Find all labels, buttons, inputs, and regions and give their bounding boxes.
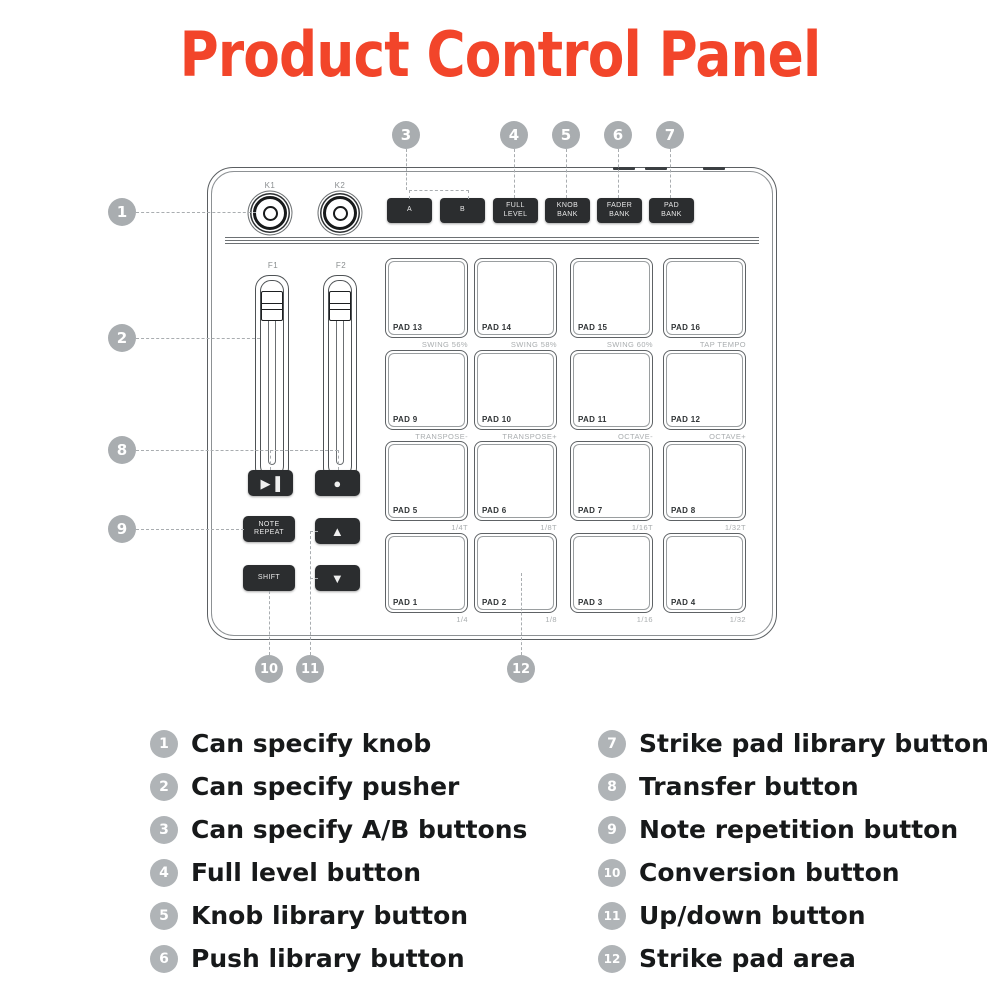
leader-3-bracket bbox=[409, 190, 469, 191]
pad-1-label: PAD 1 bbox=[393, 598, 417, 607]
note-repeat-button[interactable]: NOTE REPEAT bbox=[243, 516, 295, 542]
full-level-button[interactable]: FULL LEVEL bbox=[493, 198, 538, 223]
fader-f1-label: F1 bbox=[256, 261, 290, 270]
pad-15-label: PAD 15 bbox=[578, 323, 607, 332]
legend-item-11: 11 Up/down button bbox=[598, 898, 989, 933]
pad-bank-button-label: PAD BANK bbox=[661, 202, 682, 218]
chevron-down-icon: ▼ bbox=[331, 572, 344, 585]
knob-k2[interactable]: K2 bbox=[323, 196, 357, 230]
legend-column-right: 7 Strike pad library button 8 Transfer b… bbox=[598, 726, 989, 984]
leader-7-stem bbox=[670, 149, 671, 198]
callout-8: 8 bbox=[108, 436, 136, 464]
callout-4: 4 bbox=[500, 121, 528, 149]
legend-item-3: 3 Can specify A/B buttons bbox=[150, 812, 527, 847]
fader-bank-button[interactable]: FADER BANK bbox=[597, 198, 642, 223]
legend-badge-7: 7 bbox=[598, 730, 626, 758]
pad-8-label: PAD 8 bbox=[671, 506, 695, 515]
leader-8-left bbox=[270, 450, 271, 470]
knob-bank-button-label: KNOB BANK bbox=[557, 202, 578, 218]
fader-f1-slot bbox=[268, 315, 276, 465]
pad-3-label: PAD 3 bbox=[578, 598, 602, 607]
leader-6-stem bbox=[618, 149, 619, 198]
callout-5: 5 bbox=[552, 121, 580, 149]
callout-2: 2 bbox=[108, 324, 136, 352]
knob-k1[interactable]: K1 bbox=[253, 196, 287, 230]
callout-12-number: 12 bbox=[512, 662, 530, 677]
legend-item-2: 2 Can specify pusher bbox=[150, 769, 527, 804]
pad-4-label: PAD 4 bbox=[671, 598, 695, 607]
callout-11: 11 bbox=[296, 655, 324, 683]
legend-badge-4: 4 bbox=[150, 859, 178, 887]
pad-12-label: PAD 12 bbox=[671, 415, 700, 424]
pad-13-label: PAD 13 bbox=[393, 323, 422, 332]
legend-text-10: Conversion button bbox=[639, 858, 900, 887]
leader-9-line bbox=[136, 529, 244, 530]
shift-label: SHIFT bbox=[258, 574, 280, 582]
callout-10-number: 10 bbox=[260, 662, 278, 677]
port-mark-3 bbox=[703, 167, 725, 170]
fader-f2-slot bbox=[336, 315, 344, 465]
legend-text-4: Full level button bbox=[191, 858, 421, 887]
panel-divider-3 bbox=[225, 243, 759, 244]
legend-text-5: Knob library button bbox=[191, 901, 468, 930]
callout-9: 9 bbox=[108, 515, 136, 543]
legend-text-9: Note repetition button bbox=[639, 815, 958, 844]
b-button[interactable]: B bbox=[440, 198, 485, 223]
leader-2-line bbox=[136, 338, 260, 339]
fader-f1-track bbox=[260, 280, 284, 477]
pad-16[interactable]: PAD 16 bbox=[663, 258, 746, 338]
pad-8[interactable]: PAD 8 bbox=[663, 441, 746, 521]
record-icon: ● bbox=[333, 477, 341, 490]
leader-11-bracket bbox=[310, 531, 318, 532]
legend-badge-11: 11 bbox=[598, 902, 626, 930]
chevron-up-icon: ▲ bbox=[331, 525, 344, 538]
callout-7: 7 bbox=[656, 121, 684, 149]
knob-k1-dial[interactable] bbox=[253, 196, 287, 230]
leader-4-stem bbox=[514, 149, 515, 198]
a-button-label: A bbox=[407, 206, 412, 214]
legend-item-5: 5 Knob library button bbox=[150, 898, 527, 933]
callout-3: 3 bbox=[392, 121, 420, 149]
callout-5-number: 5 bbox=[561, 126, 571, 144]
pad-10[interactable]: PAD 10 bbox=[474, 350, 557, 430]
pad-3-sub: 1/16 bbox=[570, 615, 653, 624]
legend-text-3: Can specify A/B buttons bbox=[191, 815, 527, 844]
fader-bank-button-label: FADER BANK bbox=[607, 202, 632, 218]
knob-k2-dial[interactable] bbox=[323, 196, 357, 230]
callout-2-number: 2 bbox=[117, 329, 127, 347]
pad-11[interactable]: PAD 11 bbox=[570, 350, 653, 430]
leader-12-stem bbox=[521, 573, 522, 655]
pad-15[interactable]: PAD 15 bbox=[570, 258, 653, 338]
leader-3-right bbox=[468, 190, 469, 199]
record-button[interactable]: ● bbox=[315, 470, 360, 496]
pad-14[interactable]: PAD 14 bbox=[474, 258, 557, 338]
legend-text-8: Transfer button bbox=[639, 772, 859, 801]
pad-1[interactable]: PAD 1 bbox=[385, 533, 468, 613]
pad-16-label: PAD 16 bbox=[671, 323, 700, 332]
legend-badge-2: 2 bbox=[150, 773, 178, 801]
pad-7-label: PAD 7 bbox=[578, 506, 602, 515]
pad-1-sub: 1/4 bbox=[385, 615, 468, 624]
legend-text-7: Strike pad library button bbox=[639, 729, 989, 758]
leader-3-left bbox=[409, 190, 410, 199]
a-button[interactable]: A bbox=[387, 198, 432, 223]
legend-item-12: 12 Strike pad area bbox=[598, 941, 989, 976]
pad-6-label: PAD 6 bbox=[482, 506, 506, 515]
legend-badge-5: 5 bbox=[150, 902, 178, 930]
legend-badge-3: 3 bbox=[150, 816, 178, 844]
legend-column-left: 1 Can specify knob 2 Can specify pusher … bbox=[150, 726, 527, 984]
pad-7[interactable]: PAD 7 bbox=[570, 441, 653, 521]
pad-2[interactable]: PAD 2 bbox=[474, 533, 557, 613]
callout-6-number: 6 bbox=[613, 126, 623, 144]
legend-badge-10: 10 bbox=[598, 859, 626, 887]
pad-4[interactable]: PAD 4 bbox=[663, 533, 746, 613]
callout-1: 1 bbox=[108, 198, 136, 226]
legend-item-7: 7 Strike pad library button bbox=[598, 726, 989, 761]
play-pause-icon: ▶▐ bbox=[260, 477, 280, 490]
callout-9-number: 9 bbox=[117, 520, 127, 538]
pad-5[interactable]: PAD 5 bbox=[385, 441, 468, 521]
legend-badge-6: 6 bbox=[150, 945, 178, 973]
leader-10-stem bbox=[269, 591, 270, 655]
shift-button[interactable]: SHIFT bbox=[243, 565, 295, 591]
pad-6-sub: 1/8T bbox=[474, 523, 557, 532]
callout-3-number: 3 bbox=[401, 126, 411, 144]
legend-text-1: Can specify knob bbox=[191, 729, 431, 758]
callout-1-number: 1 bbox=[117, 203, 127, 221]
pad-2-sub: 1/8 bbox=[474, 615, 557, 624]
pad-8-sub: 1/32T bbox=[663, 523, 746, 532]
pad-4-sub: 1/32 bbox=[663, 615, 746, 624]
play-pause-button[interactable]: ▶▐ bbox=[248, 470, 293, 496]
pad-14-label: PAD 14 bbox=[482, 323, 511, 332]
pad-14-sub: SWING 58% bbox=[474, 340, 557, 349]
leader-11-bracket2 bbox=[310, 578, 318, 579]
legend-badge-9: 9 bbox=[598, 816, 626, 844]
leader-3-stem bbox=[406, 149, 407, 190]
panel-divider-1 bbox=[225, 237, 759, 238]
pad-11-sub: OCTAVE- bbox=[570, 432, 653, 441]
callout-12: 12 bbox=[507, 655, 535, 683]
pad-12[interactable]: PAD 12 bbox=[663, 350, 746, 430]
legend-item-10: 10 Conversion button bbox=[598, 855, 989, 890]
leader-8-right bbox=[338, 450, 339, 470]
b-button-label: B bbox=[460, 206, 465, 214]
port-mark-1 bbox=[613, 167, 635, 170]
page-title: Product Control Panel bbox=[70, 18, 930, 91]
callout-10: 10 bbox=[255, 655, 283, 683]
pad-16-sub: TAP TEMPO bbox=[663, 340, 746, 349]
callout-4-number: 4 bbox=[509, 126, 519, 144]
legend-text-6: Push library button bbox=[191, 944, 465, 973]
pad-5-label: PAD 5 bbox=[393, 506, 417, 515]
knob-k2-label: K2 bbox=[320, 181, 360, 190]
legend-text-11: Up/down button bbox=[639, 901, 866, 930]
fader-f2-handle[interactable] bbox=[329, 291, 351, 321]
fader-f1-handle[interactable] bbox=[261, 291, 283, 321]
down-button[interactable]: ▼ bbox=[315, 565, 360, 591]
pad-13[interactable]: PAD 13 bbox=[385, 258, 468, 338]
knob-bank-button[interactable]: KNOB BANK bbox=[545, 198, 590, 223]
legend-item-6: 6 Push library button bbox=[150, 941, 527, 976]
port-mark-2 bbox=[645, 167, 667, 170]
leader-8-bracket bbox=[270, 450, 338, 451]
legend-badge-8: 8 bbox=[598, 773, 626, 801]
pad-9[interactable]: PAD 9 bbox=[385, 350, 468, 430]
pad-6[interactable]: PAD 6 bbox=[474, 441, 557, 521]
fader-f2-label: F2 bbox=[324, 261, 358, 270]
pad-2-label: PAD 2 bbox=[482, 598, 506, 607]
callout-7-number: 7 bbox=[665, 126, 675, 144]
pad-bank-button[interactable]: PAD BANK bbox=[649, 198, 694, 223]
pad-12-sub: OCTAVE+ bbox=[663, 432, 746, 441]
fader-f2-track bbox=[328, 280, 352, 477]
callout-8-number: 8 bbox=[117, 441, 127, 459]
pad-10-sub: TRANSPOSE+ bbox=[474, 432, 557, 441]
callout-6: 6 bbox=[604, 121, 632, 149]
pad-11-label: PAD 11 bbox=[578, 415, 607, 424]
legend-text-12: Strike pad area bbox=[639, 944, 856, 973]
pad-10-label: PAD 10 bbox=[482, 415, 511, 424]
legend-badge-1: 1 bbox=[150, 730, 178, 758]
legend-item-1: 1 Can specify knob bbox=[150, 726, 527, 761]
leader-5-stem bbox=[566, 149, 567, 198]
legend-text-2: Can specify pusher bbox=[191, 772, 459, 801]
pad-3[interactable]: PAD 3 bbox=[570, 533, 653, 613]
callout-11-number: 11 bbox=[301, 662, 319, 677]
legend-item-9: 9 Note repetition button bbox=[598, 812, 989, 847]
legend-item-8: 8 Transfer button bbox=[598, 769, 989, 804]
full-level-button-label: FULL LEVEL bbox=[504, 202, 528, 218]
knob-k1-label: K1 bbox=[250, 181, 290, 190]
legend-badge-12: 12 bbox=[598, 945, 626, 973]
pad-9-label: PAD 9 bbox=[393, 415, 417, 424]
leader-1-line bbox=[136, 212, 256, 213]
pad-7-sub: 1/16T bbox=[570, 523, 653, 532]
note-repeat-label: NOTE REPEAT bbox=[254, 521, 284, 537]
pad-13-sub: SWING 56% bbox=[385, 340, 468, 349]
pad-15-sub: SWING 60% bbox=[570, 340, 653, 349]
pad-9-sub: TRANSPOSE- bbox=[385, 432, 468, 441]
legend-item-4: 4 Full level button bbox=[150, 855, 527, 890]
leader-11-stem bbox=[310, 531, 311, 655]
pad-5-sub: 1/4T bbox=[385, 523, 468, 532]
up-button[interactable]: ▲ bbox=[315, 518, 360, 544]
panel-divider-2 bbox=[225, 240, 759, 241]
